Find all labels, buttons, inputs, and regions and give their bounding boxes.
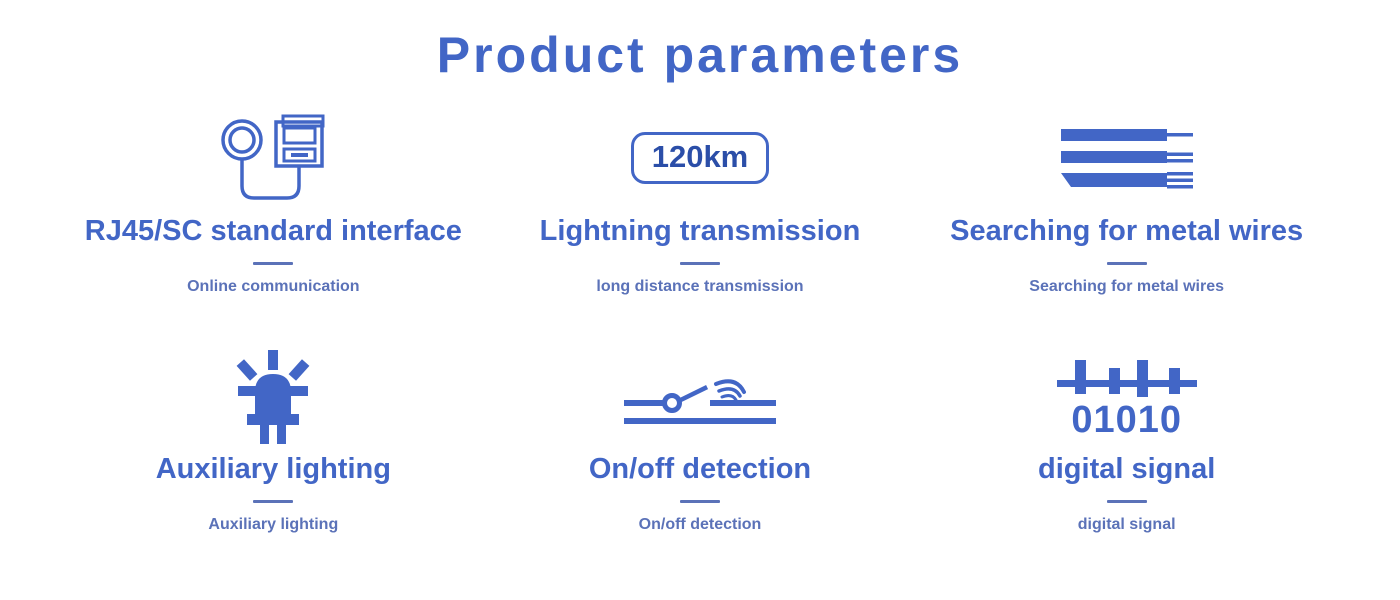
title-divider (680, 262, 720, 265)
digital-waveform-icon (1057, 354, 1197, 400)
feature-title: Searching for metal wires (950, 216, 1303, 248)
digital-signal-group: 01010 (1057, 354, 1197, 439)
metal-wires-icon (1057, 120, 1197, 196)
page-title: Product parameters (0, 0, 1400, 80)
feature-subtitle: digital signal (1078, 516, 1176, 534)
feature-subtitle: Online communication (187, 278, 359, 296)
feature-title: digital signal (1038, 454, 1215, 486)
product-parameters-page: Product parameters RJ (0, 0, 1400, 600)
digital-signal-value: 01010 (1071, 401, 1182, 439)
title-divider (253, 500, 293, 503)
feature-title: Auxiliary lighting (156, 454, 391, 486)
feature-subtitle: Searching for metal wires (1029, 278, 1224, 296)
feature-subtitle: long distance transmission (596, 278, 803, 296)
feature-grid: RJ45/SC standard interface Online commun… (60, 102, 1340, 578)
rj45-sc-connector-icon (213, 108, 333, 208)
led-lamp-icon (225, 348, 321, 444)
feature-card-metal-wires: Searching for metal wires Searching for … (913, 102, 1340, 340)
feature-title: Lightning transmission (540, 216, 861, 248)
icon-container (213, 102, 333, 214)
icon-container (225, 340, 321, 452)
title-divider (1107, 500, 1147, 503)
feature-title: On/off detection (589, 454, 811, 486)
icon-container (620, 340, 780, 452)
feature-card-digital-signal: 01010 digital signal digital signal (913, 340, 1340, 578)
feature-card-onoff-detection: On/off detection On/off detection (487, 340, 914, 578)
icon-container: 01010 (1057, 340, 1197, 452)
feature-title: RJ45/SC standard interface (85, 216, 462, 248)
title-divider (253, 262, 293, 265)
distance-badge-icon: 120km (631, 132, 770, 185)
feature-subtitle: On/off detection (639, 516, 762, 534)
icon-container (1057, 102, 1197, 214)
feature-subtitle: Auxiliary lighting (208, 516, 338, 534)
feature-card-rj45-sc: RJ45/SC standard interface Online commun… (60, 102, 487, 340)
feature-card-lightning-transmission: 120km Lightning transmission long distan… (487, 102, 914, 340)
title-divider (680, 500, 720, 503)
icon-container: 120km (631, 102, 770, 214)
feature-card-auxiliary-lighting: Auxiliary lighting Auxiliary lighting (60, 340, 487, 578)
title-divider (1107, 262, 1147, 265)
circuit-switch-icon (620, 360, 780, 432)
